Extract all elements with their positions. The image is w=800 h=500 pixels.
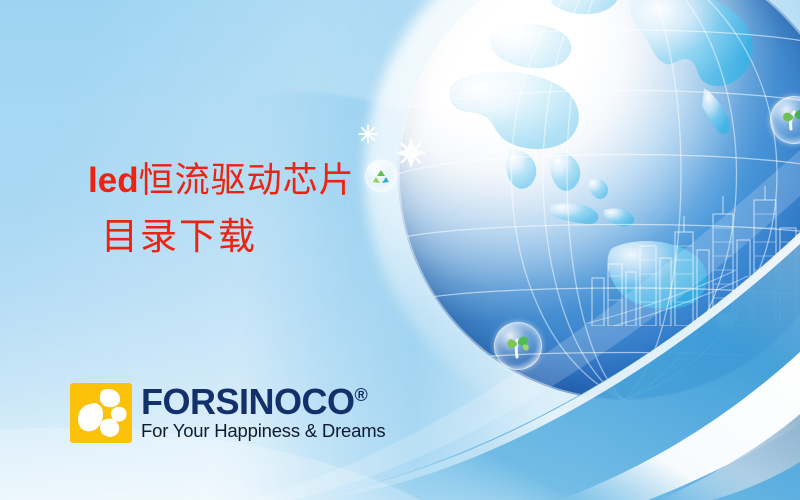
logo-mark: [70, 383, 132, 443]
earth-globe: [398, 0, 800, 400]
headline-line-2: 目录下载: [101, 219, 355, 256]
registered-mark: ®: [355, 385, 368, 405]
globe-graticule-icon: [398, 0, 800, 400]
logo-name-text: FORSINOCO: [141, 381, 355, 422]
logo-tagline: For Your Happiness & Dreams: [141, 421, 385, 440]
logo-text: FORSINOCO® For Your Happiness & Dreams: [141, 385, 385, 441]
logo-name: FORSINOCO®: [141, 385, 385, 419]
headline-line-1-latin: led: [88, 161, 139, 200]
headline-line-1-cjk: 恒流驱动芯片: [139, 161, 355, 200]
promo-banner: led恒流驱动芯片 目录下载 FORSINOCO® For Your Happ: [0, 0, 800, 500]
continents: [449, 0, 753, 331]
globe-sphere: [398, 0, 800, 400]
headline: led恒流驱动芯片 目录下载: [88, 163, 355, 256]
four-petal-flower-icon: [70, 383, 132, 443]
brand-logo: FORSINOCO® For Your Happiness & Dreams: [70, 383, 385, 443]
headline-line-1: led恒流驱动芯片: [88, 163, 355, 198]
